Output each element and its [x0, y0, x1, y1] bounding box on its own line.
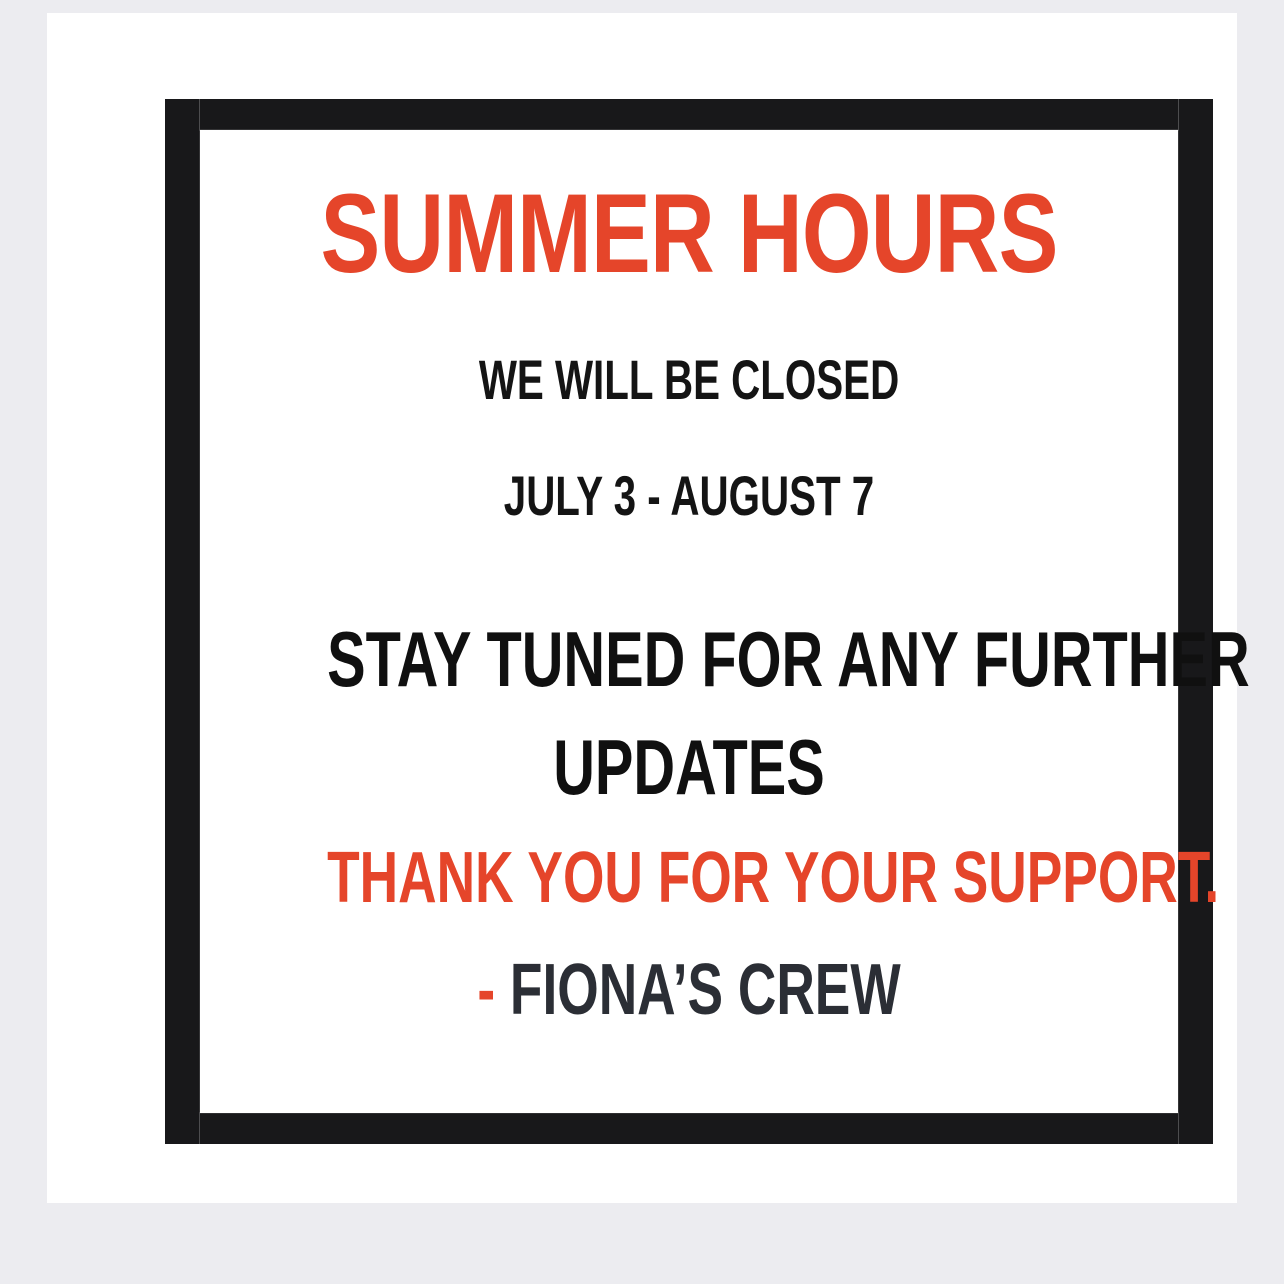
frame-mitre-top-left [199, 99, 200, 131]
frame-bar-bottom [165, 1113, 1213, 1144]
frame-bar-top [165, 99, 1213, 130]
poster-thank-you: THANK YOU FOR YOUR SUPPORT. [327, 842, 1051, 914]
poster-body-line-2: UPDATES [327, 728, 1051, 806]
signature-dash: - [477, 950, 495, 1030]
decorative-frame: SUMMER HOURS WE WILL BE CLOSED JULY 3 - … [165, 99, 1213, 1144]
frame-mitre-bottom-right [1178, 1112, 1179, 1144]
frame-mitre-bottom-left [199, 1112, 200, 1144]
poster-signature: - FIONA’S CREW [327, 954, 1051, 1026]
poster-headline: SUMMER HOURS [298, 178, 1080, 290]
frame-mitre-top-right [1178, 99, 1179, 131]
poster-body-line-1: STAY TUNED FOR ANY FURTHER [327, 620, 1051, 698]
poster-content-area: SUMMER HOURS WE WILL BE CLOSED JULY 3 - … [200, 130, 1178, 1113]
poster-closure-dates: JULY 3 - AUGUST 7 [337, 468, 1041, 524]
poster-closed-notice: WE WILL BE CLOSED [337, 352, 1041, 408]
signature-name: FIONA’S CREW [510, 950, 901, 1030]
poster-card: SUMMER HOURS WE WILL BE CLOSED JULY 3 - … [47, 13, 1237, 1203]
frame-bar-left [165, 99, 200, 1144]
poster-canvas: SUMMER HOURS WE WILL BE CLOSED JULY 3 - … [0, 0, 1284, 1284]
